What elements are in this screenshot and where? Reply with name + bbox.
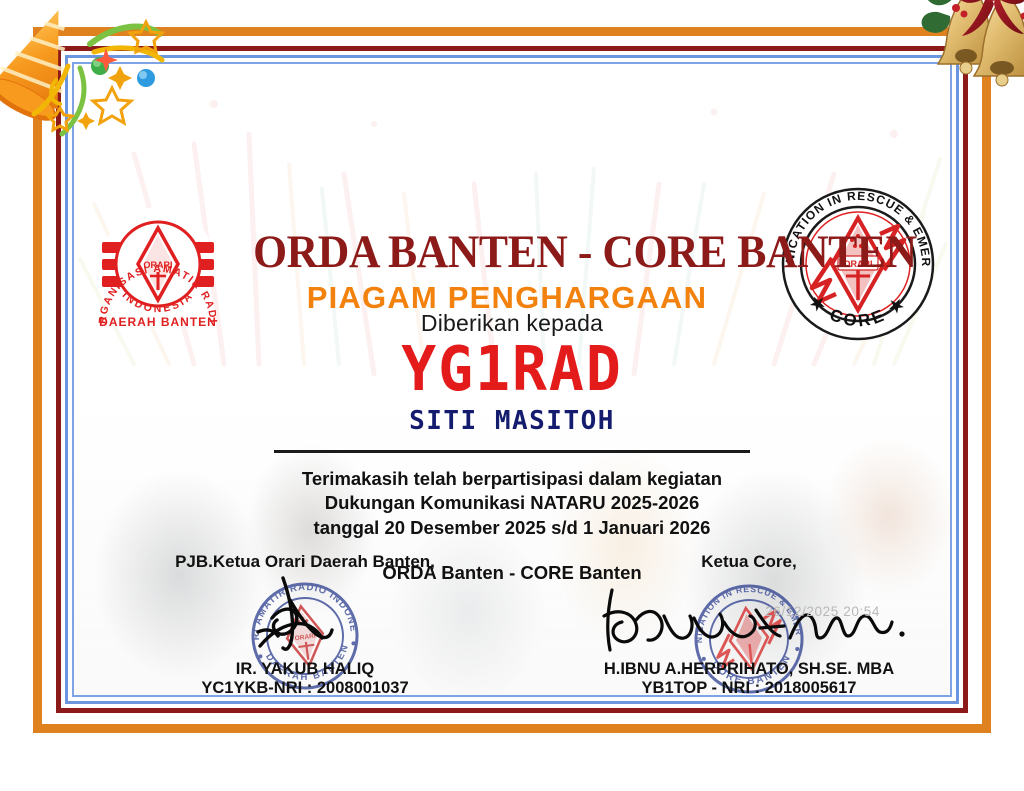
timestamp-watermark: 26/12/2025 20:54 bbox=[765, 604, 880, 619]
signatory-nri-right: YB1TOP - NRI : 2018005617 bbox=[584, 679, 914, 695]
signatory-name-right: H.IBNU A.HERPRIHATO, SH.SE. MBA bbox=[584, 660, 914, 679]
certificate-body: Diberikan kepada YG1RAD SITI MASITOH Ter… bbox=[74, 310, 950, 584]
recipient-callsign: YG1RAD bbox=[74, 337, 950, 402]
signature-block-left: PJB.Ketua Orari Daerah Banten, ORARI AM bbox=[140, 552, 470, 695]
signature-block-right: Ketua Core, COMMUNICATION IN RESCUE & E bbox=[584, 552, 914, 695]
title-block: ORDA BANTEN - CORE BANTEN PIAGAM PENGHAR… bbox=[234, 228, 780, 316]
signatory-name-left: IR. YAKUB HALIQ bbox=[140, 660, 470, 679]
award-reason-line-3: tanggal 20 Desember 2025 s/d 1 Januari 2… bbox=[74, 516, 950, 540]
page-title: ORDA BANTEN - CORE BANTEN bbox=[253, 228, 761, 277]
award-reason-line-2: Dukungan Komunikasi NATARU 2025-2026 bbox=[74, 491, 950, 515]
signature-section: PJB.Ketua Orari Daerah Banten, ORARI AM bbox=[74, 552, 950, 695]
signature-role-left: PJB.Ketua Orari Daerah Banten, bbox=[140, 552, 470, 572]
certificate-document: ORARI ORGANISASI AMATIR RADIO INDONESIA … bbox=[0, 0, 1024, 791]
handwritten-signature-left bbox=[140, 574, 470, 660]
recipient-name: SITI MASITOH bbox=[74, 406, 950, 436]
award-reason: Terimakasih telah berpartisipasi dalam k… bbox=[74, 467, 950, 540]
signature-role-right: Ketua Core, bbox=[584, 552, 914, 572]
signatory-nri-left: YC1YKB-NRI : 2008001037 bbox=[140, 679, 470, 695]
section-divider bbox=[274, 450, 750, 453]
certificate-canvas: ORARI ORGANISASI AMATIR RADIO INDONESIA … bbox=[74, 64, 950, 695]
signature-area-left: ORARI AMATIR RADIO INDONESIA DAERAH BANT… bbox=[140, 574, 470, 660]
award-reason-line-1: Terimakasih telah berpartisipasi dalam k… bbox=[74, 467, 950, 491]
